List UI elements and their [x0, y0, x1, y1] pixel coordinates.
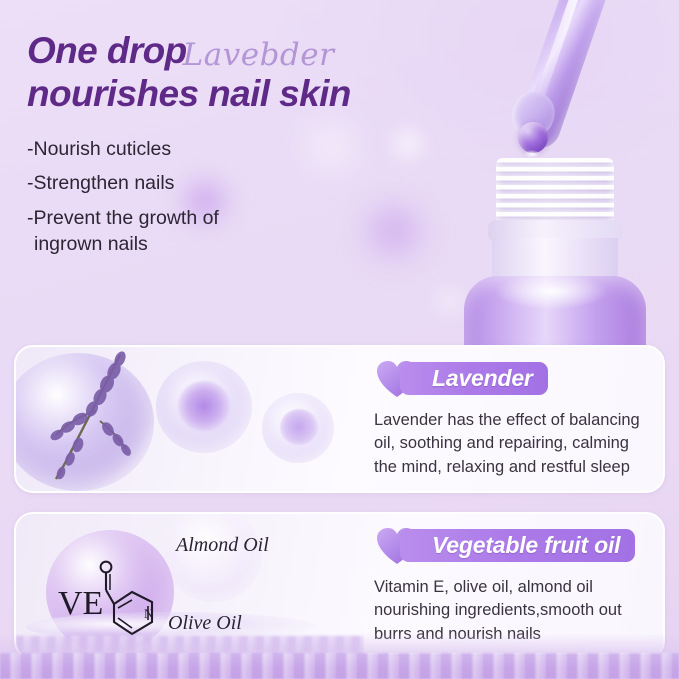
dropper-tip-icon	[506, 86, 561, 143]
bubble-icon	[262, 393, 334, 463]
vegetable-oil-badge-row: Vegetable fruit oil	[374, 528, 663, 566]
lavender-field-background	[0, 653, 679, 679]
field-fade	[0, 633, 679, 653]
list-item: -Nourish cuticles	[27, 140, 497, 160]
lavender-card-text: Lavender Lavender has the effect of bala…	[374, 347, 663, 491]
bottle-neck-thread	[496, 158, 614, 226]
list-item: -Strengthen nails	[27, 174, 497, 194]
svg-text:VE: VE	[58, 585, 103, 622]
lavender-title: Lavender	[432, 365, 533, 392]
bottle-collar	[488, 220, 622, 242]
olive-oil-label: Olive Oil	[168, 612, 242, 635]
lavender-sprig-icon	[34, 349, 154, 491]
lavender-bubbles-illustration	[16, 347, 364, 491]
lavender-description: Lavender has the effect of balancing oil…	[374, 409, 663, 479]
page-title: One dropLavebder nourishes nail skin	[27, 30, 497, 115]
oil-droplet-icon	[518, 122, 548, 153]
headline-line-1: One drop	[27, 30, 187, 71]
benefit-text: -Strengthen nails	[27, 172, 174, 194]
hero-copy: One dropLavebder nourishes nail skin -No…	[27, 30, 497, 270]
vegetable-oil-title: Vegetable fruit oil	[432, 532, 620, 559]
product-feature-graphic: One dropLavebder nourishes nail skin -No…	[0, 0, 679, 679]
benefit-text: -Nourish cuticles	[27, 138, 171, 160]
benefit-text: -Prevent the growth of	[27, 207, 219, 229]
headline-script-word: Lavebder	[183, 37, 335, 73]
benefit-list: -Nourish cuticles -Strengthen nails -Pre…	[27, 140, 497, 255]
headline-line-2: nourishes nail skin	[27, 73, 497, 114]
benefit-text-continued: ingrown nails	[27, 235, 497, 255]
list-item: -Prevent the growth of ingrown nails	[27, 209, 497, 255]
dropper-pipette-icon	[511, 0, 612, 153]
svg-text:N: N	[144, 606, 154, 621]
vegetable-oil-title-badge: Vegetable fruit oil	[400, 529, 635, 562]
bubble-icon	[156, 361, 252, 453]
feature-card-lavender: Lavender Lavender has the effect of bala…	[14, 345, 665, 493]
almond-oil-label: Almond Oil	[176, 534, 269, 557]
lavender-title-badge: Lavender	[400, 362, 548, 395]
light-flare	[432, 286, 466, 316]
lavender-badge-row: Lavender	[374, 361, 663, 399]
bottle-shoulder	[492, 238, 618, 286]
